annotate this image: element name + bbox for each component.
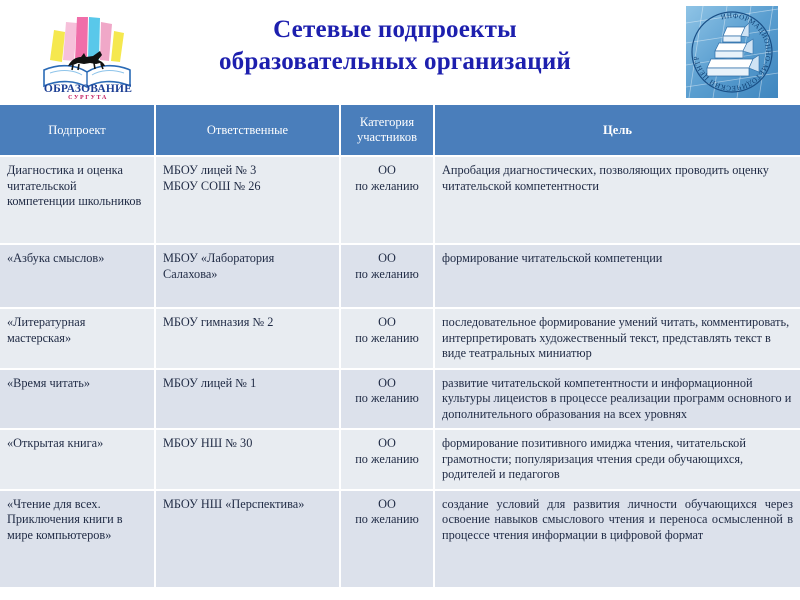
column-header-responsible[interactable]: Ответственные: [155, 105, 340, 156]
cell-category-line-1: ОО: [348, 315, 426, 331]
cell-category-line-2: по желанию: [348, 331, 426, 347]
cell-subproject: «Азбука смыслов»: [0, 244, 155, 308]
column-header-category-line-1: Категория: [345, 115, 429, 130]
cell-responsible: МБОУ НШ № 30: [155, 429, 340, 490]
cell-category-line-1: ОО: [348, 497, 426, 513]
table-header-row: Подпроект Ответственные Категория участн…: [0, 105, 800, 156]
page-title-line-2: образовательных организаций: [125, 46, 665, 78]
table-row[interactable]: «Литературная мастерская» МБОУ гимназия …: [0, 308, 800, 369]
cell-category-line-1: ОО: [348, 376, 426, 392]
slide-root: ОБРАЗОВАНИЕ СУРГУТА Сетевые подпроекты о…: [0, 0, 800, 600]
page-title-line-1: Сетевые подпроекты: [125, 14, 665, 46]
table-row[interactable]: «Чтение для всех. Приключения книги в ми…: [0, 490, 800, 588]
cell-goal: создание условий для развития личности о…: [434, 490, 800, 588]
cell-category-line-2: по желанию: [348, 391, 426, 407]
cell-category: ОО по желанию: [340, 156, 434, 244]
cell-category-line-1: ОО: [348, 163, 426, 179]
cell-category-line-1: ОО: [348, 251, 426, 267]
cell-goal: формирование позитивного имиджа чтения, …: [434, 429, 800, 490]
cell-goal: формирование читательской компетенции: [434, 244, 800, 308]
cell-responsible-line-1: МБОУ НШ № 30: [163, 436, 332, 452]
cell-responsible-line-2: МБОУ СОШ № 26: [163, 179, 332, 195]
table-row[interactable]: «Азбука смыслов» МБОУ «Лаборатория Салах…: [0, 244, 800, 308]
page-title: Сетевые подпроекты образовательных орган…: [125, 14, 665, 78]
cell-subproject: «Открытая книга»: [0, 429, 155, 490]
cell-responsible: МБОУ гимназия № 2: [155, 308, 340, 369]
logo-rays: [50, 17, 124, 62]
cell-category: ОО по желанию: [340, 308, 434, 369]
cell-responsible-line-1: МБОУ гимназия № 2: [163, 315, 332, 331]
cell-category: ОО по желанию: [340, 244, 434, 308]
cell-goal: Апробация диагностических, позволяющих п…: [434, 156, 800, 244]
table-row[interactable]: «Открытая книга» МБОУ НШ № 30 ОО по жела…: [0, 429, 800, 490]
column-header-goal[interactable]: Цель: [434, 105, 800, 156]
cell-category: ОО по желанию: [340, 490, 434, 588]
cell-responsible: МБОУ НШ «Перспектива»: [155, 490, 340, 588]
cell-responsible: МБОУ лицей № 3 МБОУ СОШ № 26: [155, 156, 340, 244]
column-header-subproject[interactable]: Подпроект: [0, 105, 155, 156]
logo-left-sub-text: СУРГУТА: [68, 95, 108, 100]
table-row[interactable]: «Время читать» МБОУ лицей № 1 ОО по жела…: [0, 369, 800, 430]
cell-responsible-line-1: МБОУ «Лаборатория: [163, 251, 332, 267]
logo-left-main-text: ОБРАЗОВАНИЕ: [44, 83, 132, 95]
table-body: Диагностика и оценка читательской компет…: [0, 156, 800, 588]
cell-responsible-line-1: МБОУ лицей № 3: [163, 163, 332, 179]
cell-category: ОО по желанию: [340, 369, 434, 430]
cell-category-line-2: по желанию: [348, 267, 426, 283]
cell-goal: последовательное формирование умений чит…: [434, 308, 800, 369]
cell-category: ОО по желанию: [340, 429, 434, 490]
cell-responsible: МБОУ «Лаборатория Салахова»: [155, 244, 340, 308]
cell-category-line-2: по желанию: [348, 179, 426, 195]
cell-category-line-1: ОО: [348, 436, 426, 452]
cell-category-line-2: по желанию: [348, 452, 426, 468]
subprojects-table-wrapper: Подпроект Ответственные Категория участн…: [0, 105, 800, 589]
slide-header: ОБРАЗОВАНИЕ СУРГУТА Сетевые подпроекты о…: [0, 0, 800, 105]
cell-subproject: «Время читать»: [0, 369, 155, 430]
cell-subproject: Диагностика и оценка читательской компет…: [0, 156, 155, 244]
subprojects-table: Подпроект Ответственные Категория участн…: [0, 105, 800, 589]
cell-goal: развитие читательской компетентности и и…: [434, 369, 800, 430]
table-header: Подпроект Ответственные Категория участн…: [0, 105, 800, 156]
cell-responsible: МБОУ лицей № 1: [155, 369, 340, 430]
cell-responsible-line-1: МБОУ НШ «Перспектива»: [163, 497, 332, 513]
cell-responsible-line-2: Салахова»: [163, 267, 332, 283]
cell-subproject: «Чтение для всех. Приключения книги в ми…: [0, 490, 155, 588]
cell-responsible-line-1: МБОУ лицей № 1: [163, 376, 332, 392]
cell-subproject: «Литературная мастерская»: [0, 308, 155, 369]
column-header-category[interactable]: Категория участников: [340, 105, 434, 156]
informatsionno-metodicheskiy-tsentr-logo: ИНФОРМАЦИОННО-МЕТОДИЧЕСКИЙ ЦЕНТР: [683, 3, 781, 101]
table-row[interactable]: Диагностика и оценка читательской компет…: [0, 156, 800, 244]
cell-category-line-2: по желанию: [348, 512, 426, 528]
column-header-category-line-2: участников: [345, 130, 429, 145]
